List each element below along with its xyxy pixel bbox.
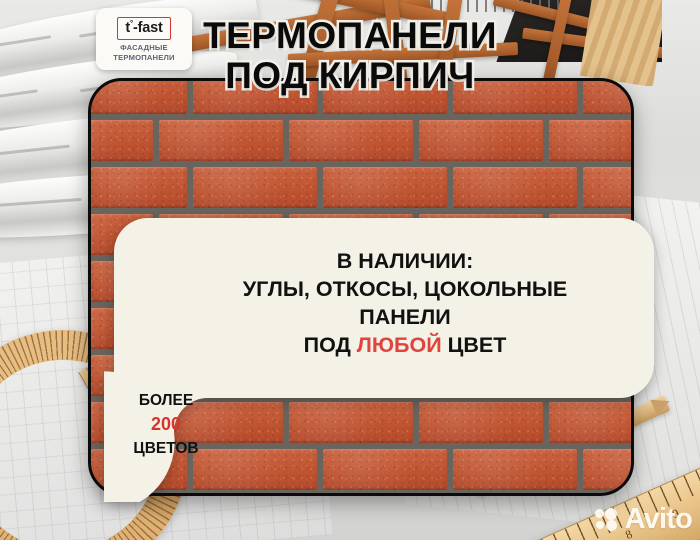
brick — [323, 78, 447, 114]
avito-wordmark: Avito — [625, 505, 692, 534]
brick — [159, 120, 283, 161]
logo-box: t°-fast — [117, 17, 170, 40]
info-line-4: ПОД ЛЮБОЙ ЦВЕТ — [170, 332, 640, 360]
brick — [549, 120, 634, 161]
badge-line-3: ЦВЕТОВ — [110, 438, 222, 460]
info-card-text: В НАЛИЧИИ: УГЛЫ, ОТКОСЫ, ЦОКОЛЬНЫЕ ПАНЕЛ… — [170, 248, 640, 360]
brick-row — [88, 120, 569, 161]
colors-badge: БОЛЕЕ 200 ЦВЕТОВ — [110, 390, 222, 460]
brick — [419, 120, 543, 161]
brick — [88, 120, 153, 161]
brick — [91, 78, 187, 114]
avito-logo-icon — [595, 508, 620, 532]
logo-tagline: ФАСАДНЫЕ ТЕРМОПАНЕЛИ — [113, 43, 174, 63]
info-line-4-highlight: ЛЮБОЙ — [357, 333, 442, 357]
avito-watermark: Avito — [595, 505, 692, 534]
brand-logo: t°-fast ФАСАДНЫЕ ТЕРМОПАНЕЛИ — [96, 8, 192, 70]
brick — [193, 167, 317, 208]
info-line-4-prefix: ПОД — [304, 333, 357, 357]
brick — [583, 78, 634, 114]
brick — [583, 167, 634, 208]
brick — [453, 78, 577, 114]
brick — [453, 167, 577, 208]
advert-image: 4 5 6 7 8 9 10 ТЕРМОПАНЕЛИ ПОД КИРПИЧ В … — [0, 0, 700, 540]
badge-number: 200 — [110, 412, 222, 438]
info-line-3: ПАНЕЛИ — [170, 304, 640, 332]
brick — [323, 167, 447, 208]
brick — [289, 120, 413, 161]
logo-word-tail: -fast — [133, 20, 163, 36]
brick-row — [91, 167, 631, 208]
logo-tagline-line-2: ТЕРМОПАНЕЛИ — [113, 53, 174, 63]
badge-line-1: БОЛЕЕ — [110, 390, 222, 412]
brick — [193, 78, 317, 114]
info-line-1: В НАЛИЧИИ: — [170, 248, 640, 276]
logo-tagline-line-1: ФАСАДНЫЕ — [113, 43, 174, 53]
wood-plank — [580, 0, 662, 86]
brick-row — [91, 78, 631, 114]
info-line-2: УГЛЫ, ОТКОСЫ, ЦОКОЛЬНЫЕ — [170, 276, 640, 304]
brick — [91, 167, 187, 208]
info-line-4-suffix: ЦВЕТ — [442, 333, 507, 357]
logo-wordmark: t°-fast — [125, 20, 162, 36]
roof-truss — [192, 0, 662, 86]
